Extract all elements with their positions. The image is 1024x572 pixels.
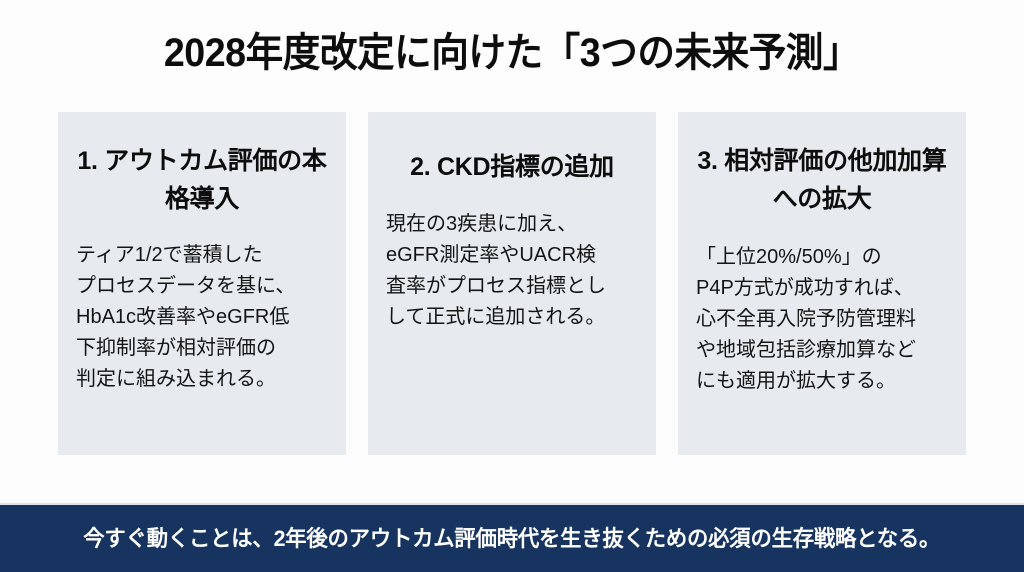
slide-root: 2028年度改定に向けた「3つの未来予測」 1. アウトカム評価の本格導入 ティ… [0, 0, 1024, 572]
prediction-card-1-body: ティア1/2で蓄積した プロセスデータを基に、 HbA1c改善率やeGFR低 下… [76, 226, 328, 429]
card-3-body-line-5: にも適用が拡大する。 [696, 366, 948, 397]
prediction-card-3-body: 「上位20%/50%」の P4P方式が成功すれば、 心不全再入院予防管理料 や地… [696, 228, 948, 427]
prediction-card-2: 2. CKD指標の追加 現在の3疾患に加え、 eGFR測定率やUACR検 査率が… [368, 112, 656, 455]
card-2-body-line-4: して正式に追加される。 [386, 302, 638, 333]
footer-message: 今すぐ動くことは、2年後のアウトカム評価時代を生き抜くための必須の生存戦略となる… [84, 524, 941, 554]
card-1-body-line-1: ティア1/2で蓄積した [76, 240, 328, 271]
card-3-body-line-2: P4P方式が成功すれば、 [696, 273, 948, 304]
prediction-card-3: 3. 相対評価の他加加算への拡大 「上位20%/50%」の P4P方式が成功すれ… [678, 112, 966, 455]
prediction-card-2-title: 2. CKD指標の追加 [386, 142, 638, 186]
card-2-body-line-3: 査率がプロセス指標とし [386, 271, 638, 302]
card-1-body-line-4: 下抑制率が相対評価の [76, 333, 328, 364]
card-3-body-line-4: や地域包括診療加算など [696, 335, 948, 366]
prediction-card-1-title: 1. アウトカム評価の本格導入 [76, 142, 328, 218]
page-title: 2028年度改定に向けた「3つの未来予測」 [31, 28, 994, 78]
prediction-cards-row: 1. アウトカム評価の本格導入 ティア1/2で蓄積した プロセスデータを基に、 … [58, 112, 966, 455]
card-1-body-line-5: 判定に組み込まれる。 [76, 364, 328, 395]
prediction-card-2-body: 現在の3疾患に加え、 eGFR測定率やUACR検 査率がプロセス指標とし して正… [386, 195, 638, 429]
card-3-body-line-3: 心不全再入院予防管理料 [696, 304, 948, 335]
card-2-body-line-2: eGFR測定率やUACR検 [386, 240, 638, 271]
card-1-body-line-2: プロセスデータを基に、 [76, 271, 328, 302]
prediction-card-3-title: 3. 相対評価の他加加算への拡大 [696, 142, 948, 218]
card-2-body-line-1: 現在の3疾患に加え、 [386, 209, 638, 240]
card-3-body-line-1: 「上位20%/50%」の [696, 242, 948, 273]
card-1-body-line-3: HbA1c改善率やeGFR低 [76, 302, 328, 333]
footer-banner: 今すぐ動くことは、2年後のアウトカム評価時代を生き抜くための必須の生存戦略となる… [0, 503, 1024, 572]
prediction-card-1: 1. アウトカム評価の本格導入 ティア1/2で蓄積した プロセスデータを基に、 … [58, 112, 346, 455]
